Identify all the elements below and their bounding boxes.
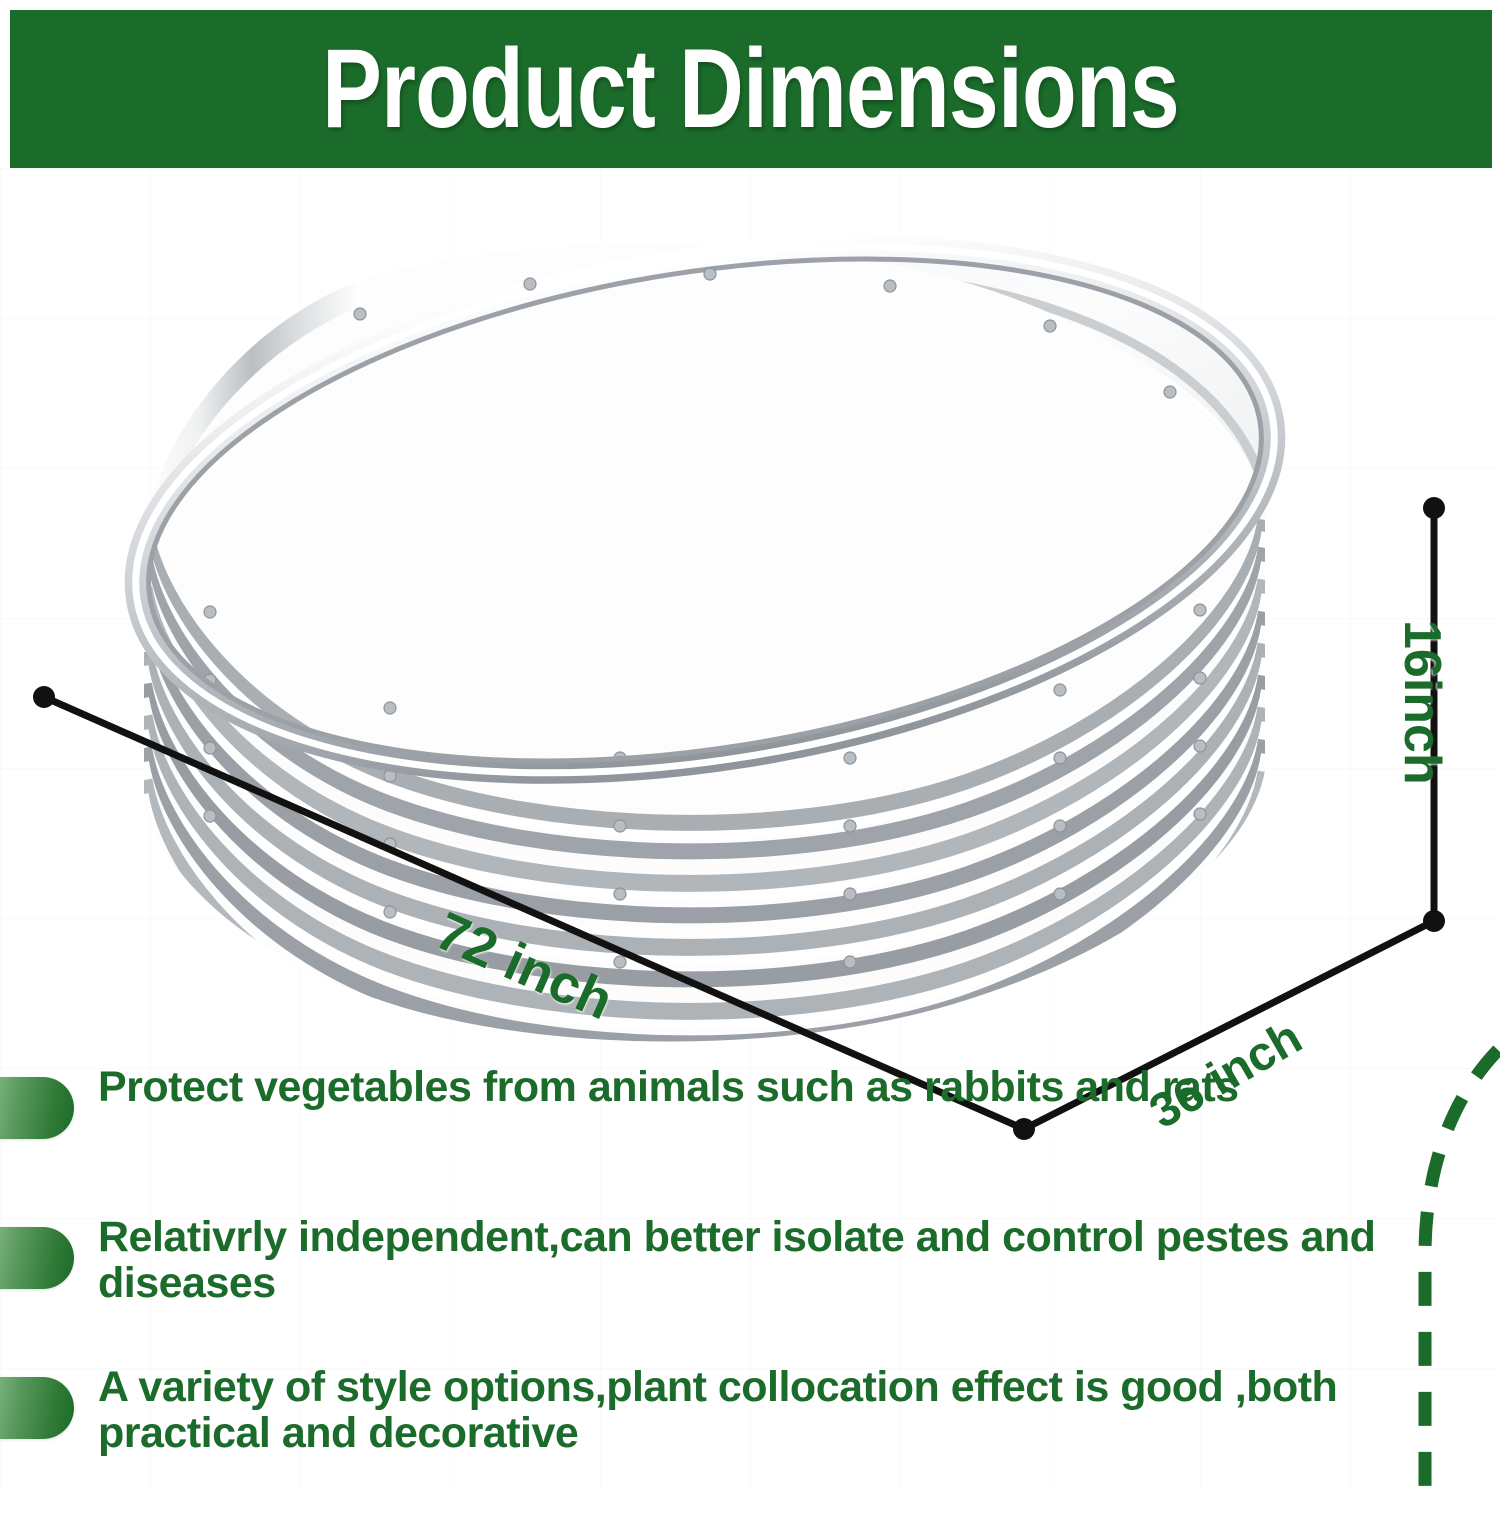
feature-list: Protect vegetables from animals such as …: [0, 1065, 1460, 1515]
list-item: Protect vegetables from animals such as …: [0, 1065, 1460, 1157]
bullet-pill-icon: [0, 1077, 74, 1139]
feature-text: Protect vegetables from animals such as …: [98, 1065, 1239, 1111]
product-illustration: [60, 210, 1410, 1150]
list-item: Relativrly independent,can better isolat…: [0, 1215, 1460, 1307]
dimension-label-height: 16inch: [1392, 620, 1452, 785]
feature-text: Relativrly independent,can better isolat…: [98, 1215, 1418, 1306]
list-item: A variety of style options,plant colloca…: [0, 1365, 1460, 1457]
page-title: Product Dimensions: [323, 33, 1180, 145]
feature-text: A variety of style options,plant colloca…: [98, 1365, 1418, 1456]
header-banner: Product Dimensions: [10, 10, 1492, 168]
bullet-pill-icon: [0, 1227, 74, 1289]
bullet-pill-icon: [0, 1377, 74, 1439]
